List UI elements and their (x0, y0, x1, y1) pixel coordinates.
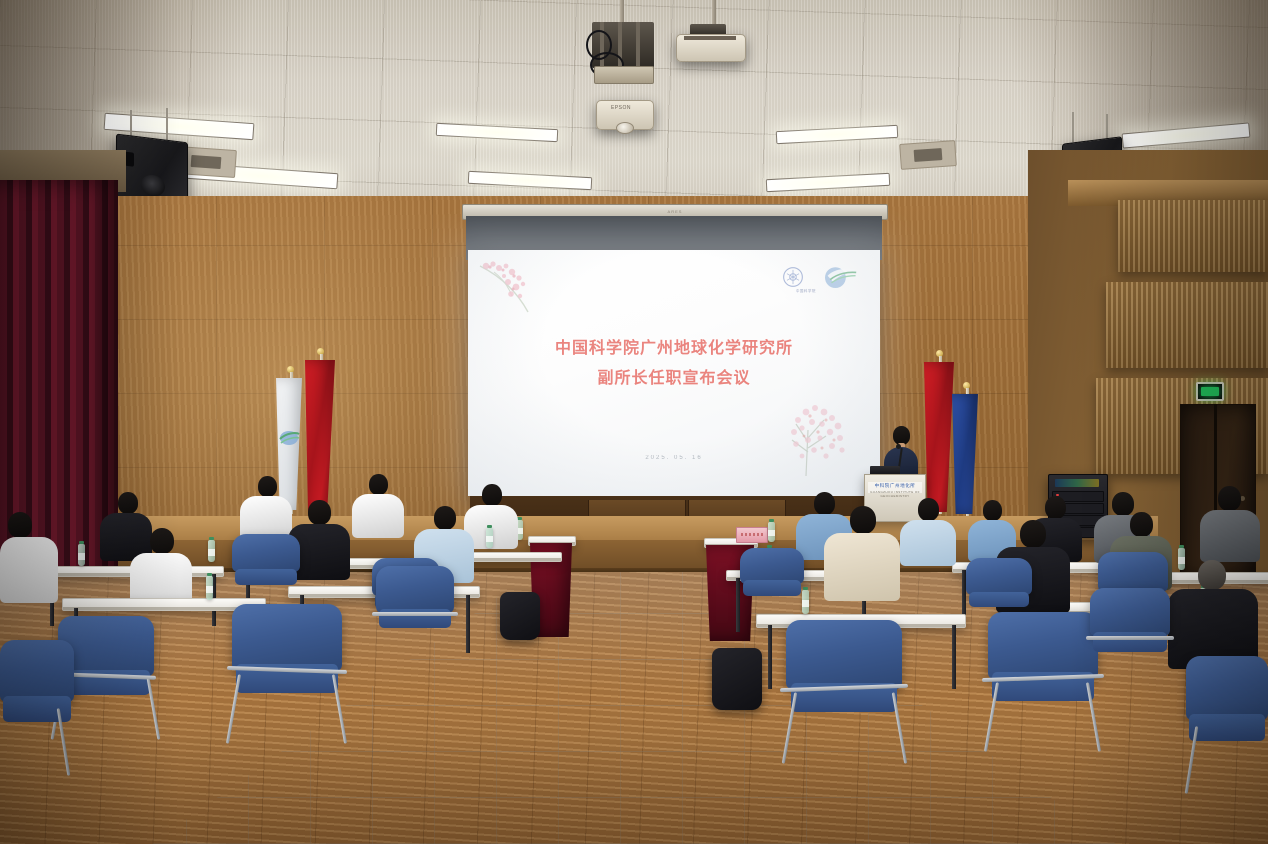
attendee (1168, 560, 1258, 666)
exit-sign (1196, 382, 1224, 401)
chair-seat (969, 592, 1030, 608)
chair-backrest (786, 620, 902, 689)
water-bottle (78, 544, 85, 566)
attendee-head (1218, 486, 1241, 511)
chair-backrest (988, 612, 1098, 679)
cage-bar (636, 22, 640, 68)
table-leg (952, 625, 956, 689)
institute-flag-emblem-icon (278, 426, 300, 456)
chair-backrest (232, 534, 300, 572)
audience-chair[interactable] (988, 612, 1098, 720)
water-bottle (486, 528, 493, 548)
audience-chair (740, 548, 804, 606)
attendee-head (369, 474, 388, 495)
attendee-head (850, 506, 876, 534)
chair-seat (1189, 714, 1264, 741)
floor-bag (500, 592, 540, 640)
audience-chair[interactable] (786, 620, 902, 732)
audience-chair (966, 558, 1032, 618)
audience-chair[interactable] (1186, 656, 1268, 760)
audience-chair[interactable] (0, 640, 74, 740)
attendee-head (308, 500, 331, 525)
water-bottle (768, 522, 775, 542)
projector-mount-rod (620, 0, 624, 22)
attendee-head (150, 528, 174, 554)
attendee (824, 506, 900, 598)
chair-backrest (740, 548, 804, 584)
podium-sign-text: 中科院广州地化所 (865, 483, 925, 489)
chair-backrest (376, 566, 454, 613)
chair-backrest (1098, 552, 1168, 592)
attendee (130, 528, 192, 608)
chair-backrest (1186, 656, 1268, 720)
projector-mount-plate (594, 66, 654, 84)
chair-backrest (232, 604, 342, 671)
attendee (1200, 486, 1260, 556)
attendee-head (983, 500, 1002, 521)
table-leg (768, 625, 772, 689)
attendee-torso (1200, 510, 1260, 562)
attendee-head (1045, 496, 1066, 519)
chair-seat (743, 580, 802, 595)
attendee-head (918, 498, 939, 521)
podium-sign-subtext: GUANGZHOU INSTITUTE OF GEOCHEMISTRY (865, 490, 925, 498)
attendee-head (434, 506, 456, 530)
water-bottle (208, 540, 215, 562)
screen-vignette (468, 250, 880, 496)
attendee-torso (352, 494, 404, 538)
chair-seat (235, 569, 298, 585)
attendee (0, 512, 58, 600)
speaker-hanger-rod (1072, 112, 1074, 142)
attendee (352, 474, 404, 536)
water-bottle (206, 576, 213, 600)
audience-chair (232, 534, 300, 596)
attendee (900, 498, 956, 562)
table-leg (466, 595, 470, 653)
name-placard (736, 527, 768, 543)
speaker-hanger-rod (166, 108, 168, 140)
chair-armrest (372, 612, 458, 616)
projector-lens (616, 122, 634, 134)
bracket-bar (684, 36, 736, 40)
acoustic-panel (1118, 200, 1268, 272)
attendee-head (258, 476, 277, 497)
housing-brand-label: ARES (668, 209, 683, 214)
attendee (240, 476, 292, 538)
audience-chair[interactable] (1090, 588, 1170, 666)
chair-seat (1093, 632, 1167, 652)
floor-bag (712, 648, 762, 710)
attendee-head (1020, 520, 1046, 548)
attendee-torso (824, 533, 900, 601)
attendee-head (118, 492, 138, 514)
acoustic-panel (1106, 282, 1268, 368)
projection-screen: 中国科学院 中国科学院广州地球化学研究所 副所长任职宣布会议 2025. 05.… (468, 250, 880, 496)
attendee-head (1198, 560, 1226, 590)
audience-chair[interactable] (232, 604, 342, 712)
attendee-head (8, 512, 32, 538)
air-conditioning-vent (899, 140, 957, 170)
rack-display-panel (1055, 479, 1099, 487)
chair-backrest (1090, 588, 1170, 636)
attendee-head (482, 484, 502, 506)
conference-room-photo: EPSON ARES (0, 0, 1268, 844)
chair-backrest (0, 640, 74, 702)
attendee-torso (0, 537, 58, 603)
attendee-torso (900, 520, 956, 566)
chair-backrest (966, 558, 1032, 595)
audience-chair[interactable] (376, 566, 454, 642)
attendee-head (1130, 512, 1153, 537)
chair-armrest (1086, 636, 1174, 640)
